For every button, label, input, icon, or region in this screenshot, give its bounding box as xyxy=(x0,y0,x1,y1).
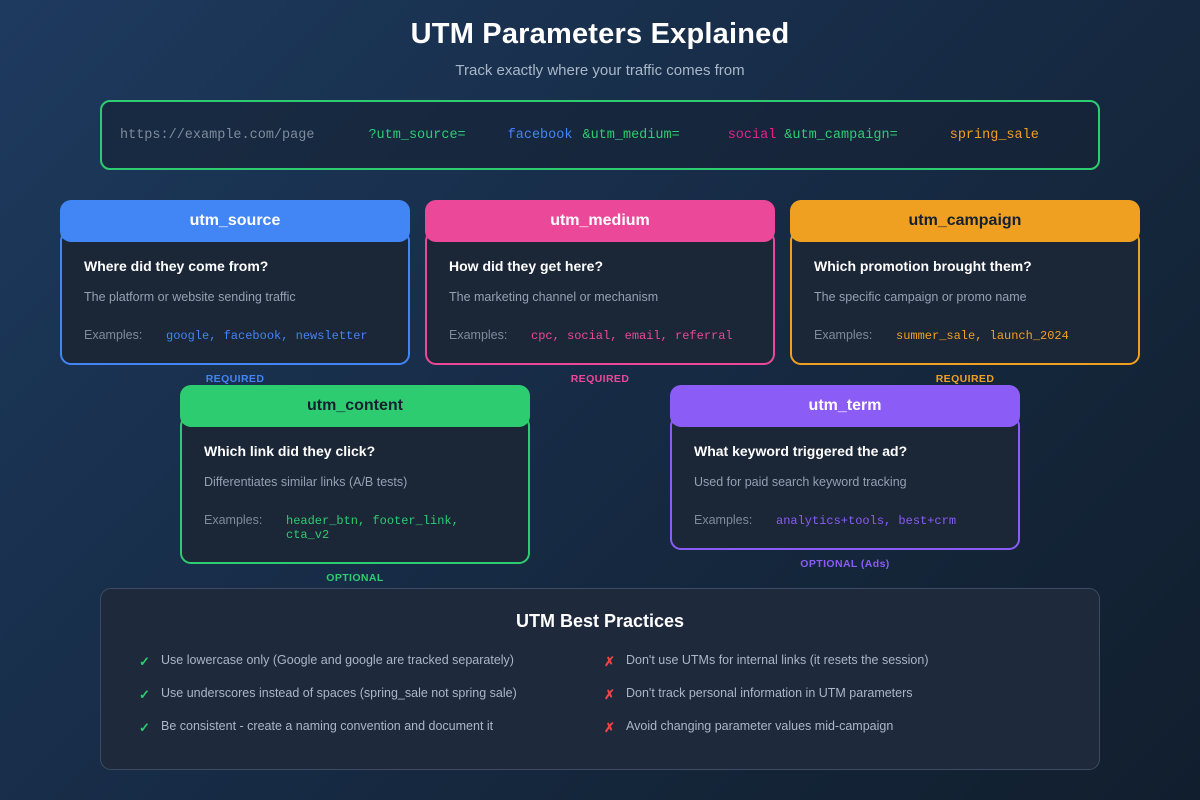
page-title: UTM Parameters Explained xyxy=(0,18,1200,51)
best-practices-title: UTM Best Practices xyxy=(135,611,1065,632)
best-practices-columns: ✓ Use lowercase only (Google and google … xyxy=(135,654,1065,753)
best-practices-do-column: ✓ Use lowercase only (Google and google … xyxy=(135,654,600,753)
card-description: The platform or website sending traffic xyxy=(84,290,386,304)
list-item: ✓ Use underscores instead of spaces (spr… xyxy=(135,687,600,703)
card-examples-label: Examples: xyxy=(84,328,166,342)
card-body-utm-source: Where did they come from? The platform o… xyxy=(60,230,410,365)
card-question: Which link did they click? xyxy=(204,443,506,459)
card-header-utm-medium: utm_medium xyxy=(425,200,775,242)
check-icon: ✓ xyxy=(135,687,161,703)
practice-text: Don't track personal information in UTM … xyxy=(626,687,913,701)
practice-text: Avoid changing parameter values mid-camp… xyxy=(626,720,893,734)
practice-text: Be consistent - create a naming conventi… xyxy=(161,720,493,734)
card-examples-label: Examples: xyxy=(204,513,286,527)
check-icon: ✓ xyxy=(135,720,161,736)
card-description: The marketing channel or mechanism xyxy=(449,290,751,304)
url-source-value: facebook xyxy=(508,128,573,143)
card-description: The specific campaign or promo name xyxy=(814,290,1116,304)
best-practices-panel: UTM Best Practices ✓ Use lowercase only … xyxy=(100,588,1100,770)
best-practices-dont-column: ✗ Don't use UTMs for internal links (it … xyxy=(600,654,1065,753)
card-question: Which promotion brought them? xyxy=(814,258,1116,274)
parameter-card-utm-term: utm_term What keyword triggered the ad? … xyxy=(670,385,1020,570)
card-header-utm-campaign: utm_campaign xyxy=(790,200,1140,242)
parameter-card-utm-medium: utm_medium How did they get here? The ma… xyxy=(425,200,775,385)
card-description: Used for paid search keyword tracking xyxy=(694,475,996,489)
practice-text: Use lowercase only (Google and google ar… xyxy=(161,654,514,668)
url-campaign-key: &utm_campaign= xyxy=(784,128,897,143)
card-question: How did they get here? xyxy=(449,258,751,274)
practice-text: Use underscores instead of spaces (sprin… xyxy=(161,687,517,701)
card-examples-row: Examples: summer_sale, launch_2024 xyxy=(814,328,1116,343)
card-body-utm-medium: How did they get here? The marketing cha… xyxy=(425,230,775,365)
parameter-card-utm-content: utm_content Which link did they click? D… xyxy=(180,385,530,584)
page-subtitle: Track exactly where your traffic comes f… xyxy=(0,62,1200,79)
card-examples-values: analytics+tools, best+crm xyxy=(776,514,956,528)
parameter-card-utm-source: utm_source Where did they come from? The… xyxy=(60,200,410,385)
url-base-segment: https://example.com/page xyxy=(120,128,314,143)
card-examples-row: Examples: header_btn, footer_link, cta_v… xyxy=(204,513,506,542)
cross-icon: ✗ xyxy=(600,687,626,703)
url-medium-value: social xyxy=(728,128,777,143)
practice-text: Don't use UTMs for internal links (it re… xyxy=(626,654,929,668)
card-body-utm-term: What keyword triggered the ad? Used for … xyxy=(670,415,1020,550)
status-badge: REQUIRED xyxy=(425,373,775,385)
card-examples-values: header_btn, footer_link, cta_v2 xyxy=(286,514,506,542)
url-medium-key: &utm_medium= xyxy=(582,128,679,143)
card-examples-label: Examples: xyxy=(449,328,531,342)
card-question: Where did they come from? xyxy=(84,258,386,274)
card-body-utm-content: Which link did they click? Differentiate… xyxy=(180,415,530,564)
card-header-utm-content: utm_content xyxy=(180,385,530,427)
card-examples-values: cpc, social, email, referral xyxy=(531,329,733,343)
status-badge: OPTIONAL xyxy=(180,572,530,584)
card-examples-values: google, facebook, newsletter xyxy=(166,329,368,343)
card-examples-values: summer_sale, launch_2024 xyxy=(896,329,1069,343)
list-item: ✗ Don't track personal information in UT… xyxy=(600,687,1065,703)
list-item: ✓ Use lowercase only (Google and google … xyxy=(135,654,600,670)
card-examples-row: Examples: cpc, social, email, referral xyxy=(449,328,751,343)
cross-icon: ✗ xyxy=(600,654,626,670)
status-badge: OPTIONAL (Ads) xyxy=(670,558,1020,570)
check-icon: ✓ xyxy=(135,654,161,670)
list-item: ✗ Don't use UTMs for internal links (it … xyxy=(600,654,1065,670)
page-header: UTM Parameters Explained Track exactly w… xyxy=(0,0,1200,79)
status-badge: REQUIRED xyxy=(790,373,1140,385)
card-examples-row: Examples: google, facebook, newsletter xyxy=(84,328,386,343)
list-item: ✓ Be consistent - create a naming conven… xyxy=(135,720,600,736)
parameter-card-utm-campaign: utm_campaign Which promotion brought the… xyxy=(790,200,1140,385)
card-header-utm-source: utm_source xyxy=(60,200,410,242)
card-question: What keyword triggered the ad? xyxy=(694,443,996,459)
card-description: Differentiates similar links (A/B tests) xyxy=(204,475,506,489)
card-examples-label: Examples: xyxy=(814,328,896,342)
card-examples-label: Examples: xyxy=(694,513,776,527)
url-campaign-value: spring_sale xyxy=(950,128,1039,143)
example-url-bar: https://example.com/page ?utm_source= fa… xyxy=(100,100,1100,170)
list-item: ✗ Avoid changing parameter values mid-ca… xyxy=(600,720,1065,736)
card-examples-row: Examples: analytics+tools, best+crm xyxy=(694,513,996,528)
card-body-utm-campaign: Which promotion brought them? The specif… xyxy=(790,230,1140,365)
cross-icon: ✗ xyxy=(600,720,626,736)
url-source-key: ?utm_source= xyxy=(368,128,465,143)
status-badge: REQUIRED xyxy=(60,373,410,385)
card-header-utm-term: utm_term xyxy=(670,385,1020,427)
